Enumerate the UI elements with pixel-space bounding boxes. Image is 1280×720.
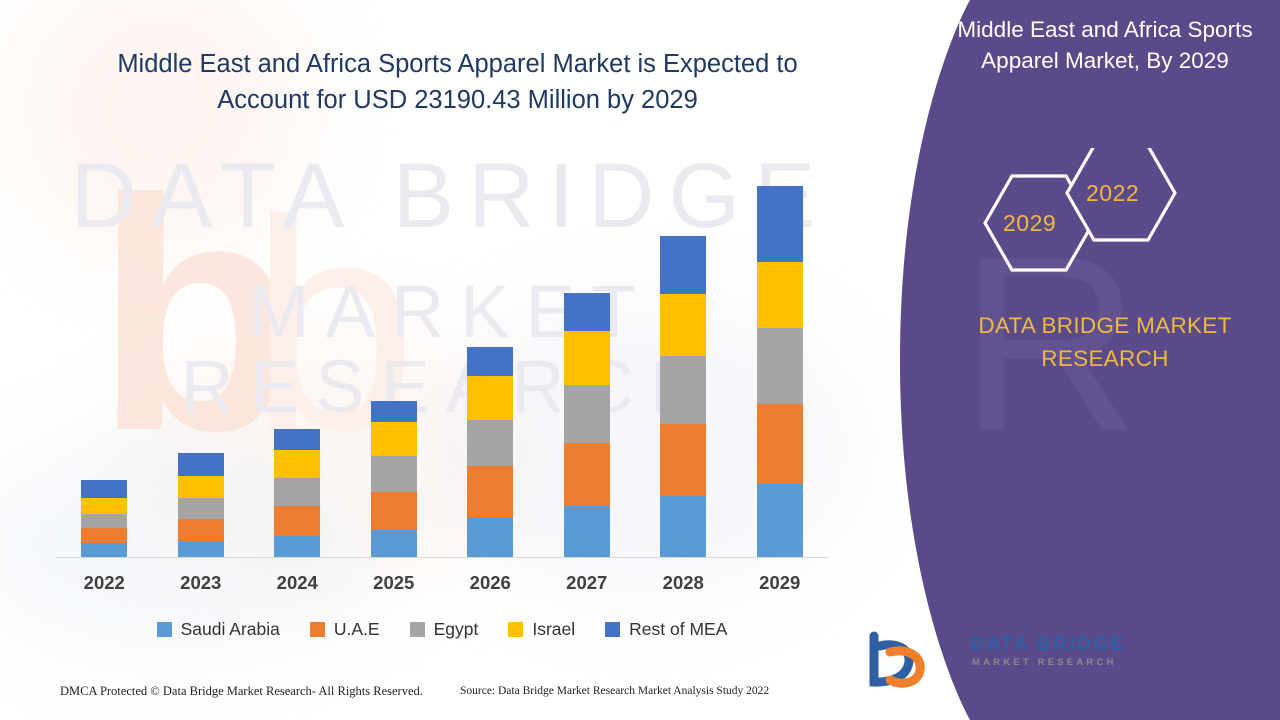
x-axis-label-2028: 2028 — [635, 572, 731, 594]
logo-wordmark: DATA BRIDGE — [970, 634, 1126, 656]
bar-segment-u-a-e-2026[interactable] — [467, 466, 513, 518]
panel-title: Middle East and Africa Sports Apparel Ma… — [950, 14, 1260, 76]
bar-column-2022[interactable] — [81, 480, 127, 558]
hex-label-2029: 2029 — [1003, 210, 1056, 237]
x-axis-label-2023: 2023 — [153, 572, 249, 594]
bar-segment-israel-2028[interactable] — [660, 294, 706, 356]
brand-name: DATA BRIDGE MARKET RESEARCH — [950, 310, 1260, 375]
hex-label-2022: 2022 — [1086, 180, 1139, 207]
bar-segment-u-a-e-2024[interactable] — [274, 506, 320, 536]
x-axis-label-2025: 2025 — [346, 572, 442, 594]
bar-segment-egypt-2026[interactable] — [467, 420, 513, 466]
dbmr-logo: DATA BRIDGE MARKET RESEARCH — [860, 630, 1260, 700]
dmca-notice: DMCA Protected © Data Bridge Market Rese… — [60, 684, 423, 699]
legend-swatch-icon — [410, 622, 425, 637]
x-axis-labels: 20222023202420252026202720282029 — [56, 572, 828, 600]
bar-segment-rest-of-mea-2022[interactable] — [81, 480, 127, 498]
legend-item-saudi-arabia[interactable]: Saudi Arabia — [157, 619, 280, 640]
bar-segment-saudi-arabia-2028[interactable] — [660, 496, 706, 558]
bar-segment-saudi-arabia-2024[interactable] — [274, 536, 320, 558]
legend-item-israel[interactable]: Israel — [508, 619, 575, 640]
dbmr-logo-icon — [860, 630, 960, 692]
bar-segment-egypt-2024[interactable] — [274, 478, 320, 506]
logo-tagline: MARKET RESEARCH — [972, 657, 1117, 668]
bar-segment-saudi-arabia-2026[interactable] — [467, 518, 513, 558]
bar-segment-rest-of-mea-2026[interactable] — [467, 347, 513, 376]
bar-segment-u-a-e-2027[interactable] — [564, 443, 610, 506]
bar-column-2028[interactable] — [660, 236, 706, 558]
bar-column-2026[interactable] — [467, 347, 513, 558]
bar-segment-israel-2022[interactable] — [81, 498, 127, 514]
chart-title: Middle East and Africa Sports Apparel Ma… — [70, 46, 845, 118]
legend-swatch-icon — [605, 622, 620, 637]
x-axis-line — [56, 557, 828, 558]
bar-segment-u-a-e-2022[interactable] — [81, 528, 127, 543]
bar-segment-israel-2029[interactable] — [757, 262, 803, 328]
bar-segment-egypt-2029[interactable] — [757, 328, 803, 404]
legend-label: Saudi Arabia — [181, 619, 280, 640]
bar-segment-israel-2023[interactable] — [178, 476, 224, 498]
bar-segment-israel-2026[interactable] — [467, 376, 513, 420]
bar-segment-saudi-arabia-2023[interactable] — [178, 541, 224, 558]
legend-swatch-icon — [508, 622, 523, 637]
bar-segment-u-a-e-2023[interactable] — [178, 519, 224, 541]
x-axis-label-2027: 2027 — [539, 572, 635, 594]
stacked-bar-chart — [56, 180, 828, 558]
bar-segment-rest-of-mea-2024[interactable] — [274, 429, 320, 450]
bar-segment-u-a-e-2029[interactable] — [757, 404, 803, 484]
bar-segment-rest-of-mea-2028[interactable] — [660, 236, 706, 294]
bar-segment-u-a-e-2028[interactable] — [660, 424, 706, 496]
chart-legend: Saudi ArabiaU.A.EEgyptIsraelRest of MEA — [56, 614, 828, 644]
legend-swatch-icon — [157, 622, 172, 637]
brand-panel: R Middle East and Africa Sports Apparel … — [840, 0, 1280, 720]
bar-column-2023[interactable] — [178, 453, 224, 558]
legend-swatch-icon — [310, 622, 325, 637]
legend-label: Israel — [532, 619, 575, 640]
bar-segment-rest-of-mea-2029[interactable] — [757, 186, 803, 262]
source-note: Source: Data Bridge Market Research Mark… — [460, 685, 769, 697]
hexagon-pair-icon — [945, 148, 1265, 298]
x-axis-label-2026: 2026 — [442, 572, 538, 594]
bar-column-2025[interactable] — [371, 401, 417, 558]
bar-segment-israel-2027[interactable] — [564, 331, 610, 385]
bar-segment-saudi-arabia-2029[interactable] — [757, 484, 803, 558]
x-axis-label-2029: 2029 — [732, 572, 828, 594]
x-axis-label-2024: 2024 — [249, 572, 345, 594]
bar-column-2029[interactable] — [757, 186, 803, 558]
bar-segment-u-a-e-2025[interactable] — [371, 492, 417, 530]
bar-segment-egypt-2023[interactable] — [178, 498, 224, 519]
bar-segment-saudi-arabia-2022[interactable] — [81, 543, 127, 558]
bar-column-2024[interactable] — [274, 429, 320, 558]
bar-segment-rest-of-mea-2023[interactable] — [178, 453, 224, 476]
bar-segment-rest-of-mea-2027[interactable] — [564, 293, 610, 331]
legend-item-egypt[interactable]: Egypt — [410, 619, 479, 640]
legend-label: U.A.E — [334, 619, 380, 640]
legend-item-u-a-e[interactable]: U.A.E — [310, 619, 380, 640]
bar-segment-egypt-2025[interactable] — [371, 456, 417, 492]
bar-segment-rest-of-mea-2025[interactable] — [371, 401, 417, 422]
legend-label: Rest of MEA — [629, 619, 727, 640]
x-axis-label-2022: 2022 — [56, 572, 152, 594]
bar-segment-saudi-arabia-2027[interactable] — [564, 506, 610, 558]
bar-segment-saudi-arabia-2025[interactable] — [371, 530, 417, 558]
bar-column-2027[interactable] — [564, 293, 610, 558]
bar-segment-egypt-2027[interactable] — [564, 385, 610, 443]
legend-label: Egypt — [434, 619, 479, 640]
bar-segment-israel-2025[interactable] — [371, 422, 417, 456]
chart-panel: b b DATA BRIDGE MARKET RESEARCH Middle E… — [0, 0, 960, 720]
bar-segment-egypt-2028[interactable] — [660, 356, 706, 424]
legend-item-rest-of-mea[interactable]: Rest of MEA — [605, 619, 727, 640]
hexagon-graphic: 2029 2022 — [945, 148, 1265, 298]
bar-segment-israel-2024[interactable] — [274, 450, 320, 478]
footer: DMCA Protected © Data Bridge Market Rese… — [0, 684, 960, 708]
bar-segment-egypt-2022[interactable] — [81, 514, 127, 528]
